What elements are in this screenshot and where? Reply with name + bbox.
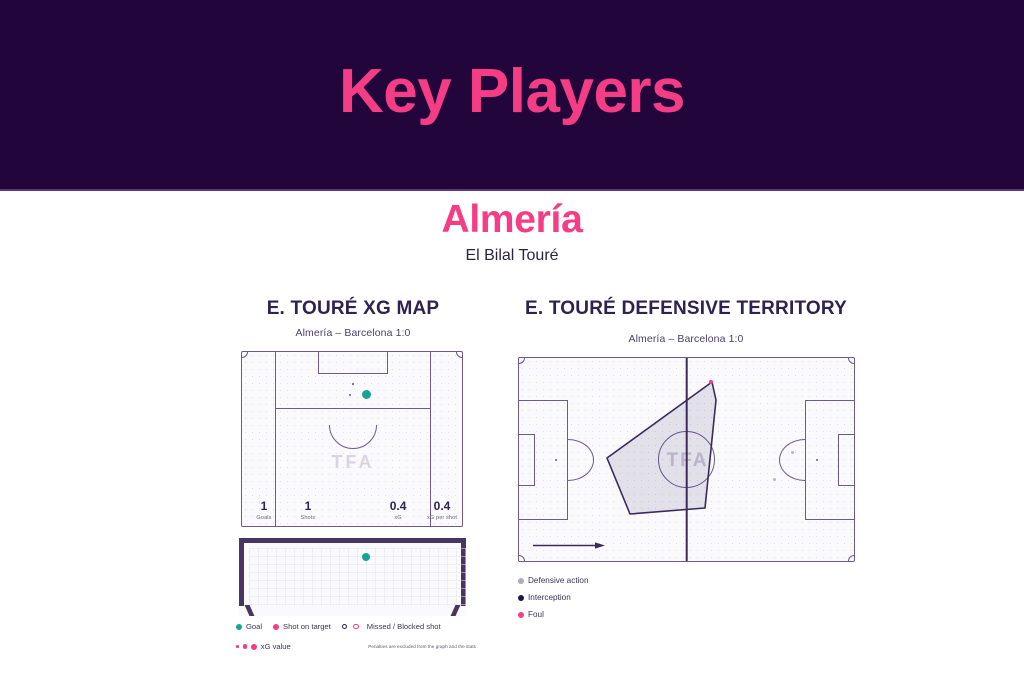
defensive-territory-title: E. TOURÉ DEFENSIVE TERRITORY: [470, 298, 902, 320]
defensive-territory-legend: Defensive action Interception Foul: [518, 576, 589, 627]
goal-net: [249, 548, 466, 611]
stat-goals: 1 Goals: [242, 499, 286, 521]
legend-item-xg-value: xG value: [236, 642, 291, 651]
stat-xg: 0.4 xG: [376, 499, 420, 521]
goal-mouth-shot-marker[interactable]: [362, 553, 370, 561]
shot-on-target-dot-icon: [273, 624, 279, 630]
event-marker-defensive-action[interactable]: [791, 451, 794, 454]
stat-shots: 1 Shots: [286, 499, 330, 521]
blocked-shot-hollow-icon: [353, 624, 359, 630]
defensive-territory-pitch: TFA: [518, 357, 855, 562]
stat-shots-label: Shots: [286, 515, 330, 521]
xg-dot-medium-icon: [243, 644, 247, 648]
legend-label-interception: Interception: [528, 593, 571, 602]
missed-shot-hollow-icon: [342, 624, 348, 630]
team-name: Almería: [0, 198, 1024, 242]
stat-xg-per-shot: 0.4 xG per shot: [420, 499, 463, 521]
xg-map-title: E. TOURÉ XG MAP: [236, 298, 470, 320]
legend-label-foul: Foul: [528, 610, 544, 619]
six-yard-box: [318, 351, 388, 374]
defensive-territory-subtitle: Almería – Barcelona 1:0: [470, 333, 902, 345]
goal-mouth-frame: [239, 538, 466, 606]
xg-dot-large-icon: [251, 644, 257, 650]
xg-map-pitch: TFA 1 Goals 1 Shots 0.4 xG 0.4 xG per sh…: [241, 351, 463, 527]
stat-xg-label: xG: [376, 515, 420, 521]
page-title: Key Players: [0, 58, 1024, 126]
player-name: El Bilal Touré: [0, 247, 1024, 265]
event-marker-foul[interactable]: [709, 380, 713, 384]
defensive-action-dot-icon: [518, 578, 524, 584]
legend-label-missed-blocked: Missed / Blocked shot: [367, 622, 441, 631]
xg-map-subtitle: Almería – Barcelona 1:0: [236, 327, 470, 339]
legend-item-missed-blocked: Missed / Blocked shot: [342, 622, 441, 631]
shot-marker-small[interactable]: [349, 394, 351, 396]
legend-item-goal: Goal: [236, 622, 262, 631]
legend-label-defensive-action: Defensive action: [528, 576, 589, 585]
legend-label-xg-value: xG value: [261, 642, 291, 651]
goal-floor: [239, 606, 466, 616]
legend-label-goal: Goal: [246, 622, 262, 631]
xg-map-legend: Goal Shot on target Missed / Blocked sho…: [236, 622, 476, 662]
legend-item-interception: Interception: [518, 593, 589, 602]
event-marker-defensive-action[interactable]: [773, 478, 776, 481]
header-band: Key Players: [0, 0, 1024, 191]
goal-dot-icon: [236, 624, 242, 630]
stat-goals-value: 1: [242, 499, 286, 513]
tfa-watermark: TFA: [242, 452, 463, 473]
foul-dot-icon: [518, 612, 524, 618]
xg-stats-strip: 1 Goals 1 Shots 0.4 xG 0.4 xG per shot: [242, 499, 463, 521]
stat-xg-per-shot-value: 0.4: [420, 499, 463, 513]
goal-frame: [341, 351, 365, 352]
goal-mouth-panel: [239, 538, 466, 616]
stat-xg-value: 0.4: [376, 499, 420, 513]
shot-marker-goal[interactable]: [362, 390, 371, 399]
stat-shots-value: 1: [286, 499, 330, 513]
legend-item-shot-on-target: Shot on target: [273, 622, 331, 631]
halfway-line: [685, 358, 688, 561]
stat-goals-label: Goals: [242, 515, 286, 521]
penalty-spot: [352, 383, 354, 385]
legend-item-defensive-action: Defensive action: [518, 576, 589, 585]
penalties-note: Penalties are excluded from the graph an…: [368, 644, 476, 649]
stat-xg-per-shot-label: xG per shot: [420, 515, 463, 521]
legend-row-shots: Goal Shot on target Missed / Blocked sho…: [236, 622, 476, 631]
attack-direction-arrow: [533, 542, 605, 549]
legend-label-shot-on-target: Shot on target: [283, 622, 331, 631]
interception-dot-icon: [518, 595, 524, 601]
legend-row-xg-value: xG value Penalties are excluded from the…: [236, 642, 476, 651]
xg-dot-small-icon: [236, 645, 239, 648]
legend-item-foul: Foul: [518, 610, 589, 619]
